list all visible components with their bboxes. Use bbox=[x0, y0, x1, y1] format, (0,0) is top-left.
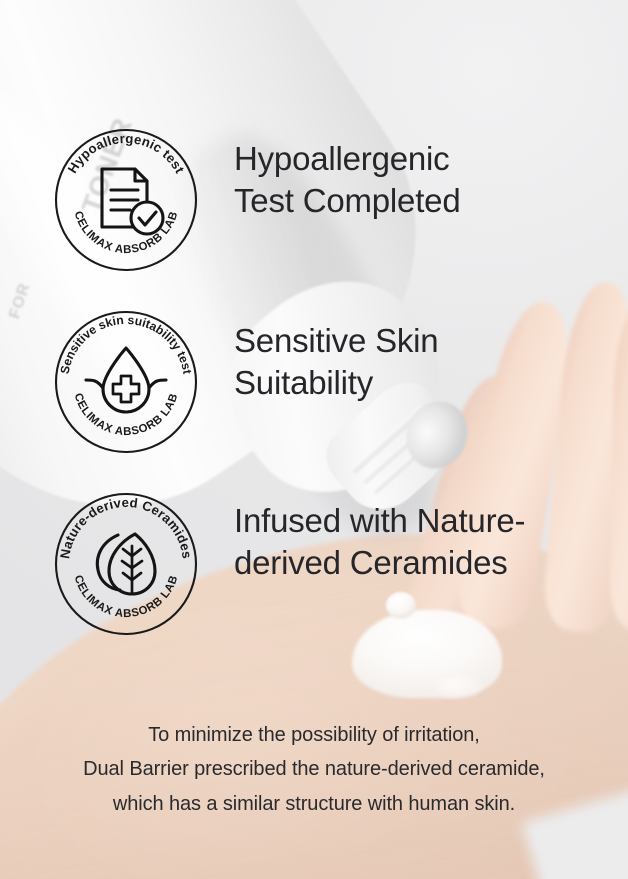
headline-ceramides: Infused with Nature- derived Ceramides bbox=[234, 500, 525, 583]
headline-hypoallergenic: Hypoallergenic Test Completed bbox=[234, 138, 460, 221]
badge-hypoallergenic: Hypoallergenic test CELIMAX ABSORB LAB bbox=[52, 126, 200, 274]
badge-bottom-text: CELIMAX ABSORB LAB bbox=[71, 574, 180, 620]
document-check-icon bbox=[102, 169, 163, 234]
headline-sensitive-skin: Sensitive Skin Suitability bbox=[234, 320, 438, 403]
droplet-plus-icon bbox=[86, 348, 166, 412]
badge-sensitive-skin: Sensitive skin suitability test CELIMAX … bbox=[52, 308, 200, 456]
body-copy: To minimize the possibility of irritatio… bbox=[0, 718, 628, 821]
badge-bottom-text: CELIMAX ABSORB LAB bbox=[71, 392, 180, 438]
product-feature-graphic: TONER FOR Hypoallergenic test CELIMAX AB… bbox=[0, 0, 628, 879]
badge-top-text: Sensitive skin suitability test bbox=[58, 313, 195, 375]
leaves-icon bbox=[97, 534, 155, 594]
badge-ceramides: Nature-derived Ceramides CELIMAX ABSORB … bbox=[52, 490, 200, 638]
cream-droplet bbox=[386, 592, 416, 619]
